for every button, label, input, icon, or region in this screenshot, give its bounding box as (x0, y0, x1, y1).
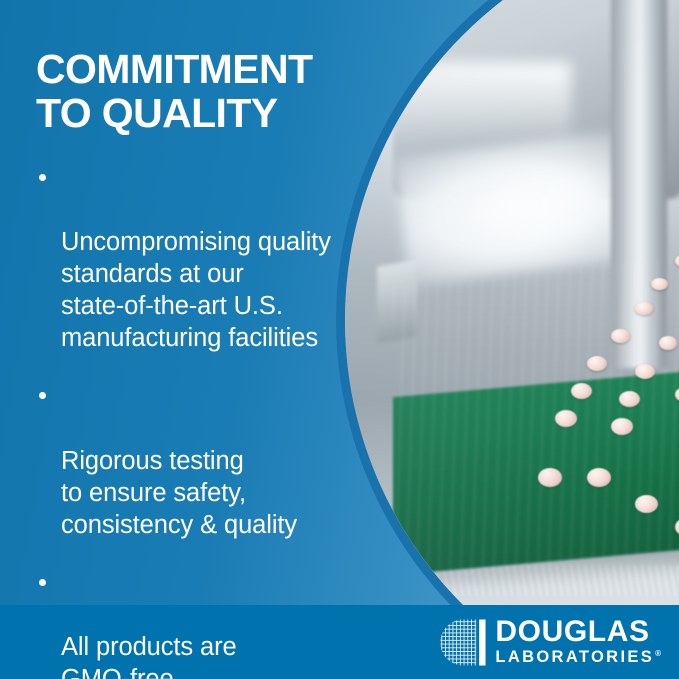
list-item: Rigorous testing to ensure safety, consi… (36, 380, 356, 541)
ceiling-light-glow-icon (361, 62, 571, 151)
douglas-sphere-grid-icon (438, 618, 487, 667)
product-photo-circle (336, 0, 679, 679)
content-column: COMMITMENT TO QUALITY Uncompromising qua… (36, 48, 356, 679)
tablet (587, 468, 611, 487)
tablet (635, 302, 653, 315)
brand-logo: DOUGLAS LABORATORIES ® (438, 618, 661, 667)
tablet (555, 410, 577, 427)
conveyor-belt (345, 247, 679, 634)
logo-subtitle: LABORATORIES (495, 649, 654, 666)
logo-wordmark: DOUGLAS LABORATORIES ® (495, 618, 661, 666)
list-item: Uncompromising quality standards at our … (36, 162, 356, 355)
list-item-text: Rigorous testing to ensure safety, consi… (61, 447, 297, 539)
logo-subtitle-wrap: LABORATORIES ® (495, 649, 661, 666)
list-item-text: All products are GMO-free (61, 633, 237, 679)
tablet (571, 383, 592, 399)
registered-trademark-icon: ® (655, 650, 661, 658)
tablet (611, 418, 633, 435)
tablet (587, 356, 607, 371)
logo-brand-name: DOUGLAS (495, 618, 661, 647)
tablet (619, 391, 640, 407)
page-title: COMMITMENT TO QUALITY (36, 48, 356, 136)
tablet (635, 364, 655, 379)
benefits-list: Uncompromising quality standards at our … (36, 162, 356, 679)
commitment-to-quality-banner: COMMITMENT TO QUALITY Uncompromising qua… (0, 0, 679, 679)
bullet-dot-icon (39, 392, 46, 399)
tablet (611, 329, 630, 343)
photo-clip (345, 0, 679, 679)
list-item: All products are GMO-free (36, 567, 356, 679)
list-item-text: Uncompromising quality standards at our … (61, 228, 331, 352)
bullet-dot-icon (39, 174, 46, 181)
bullet-dot-icon (39, 579, 46, 586)
